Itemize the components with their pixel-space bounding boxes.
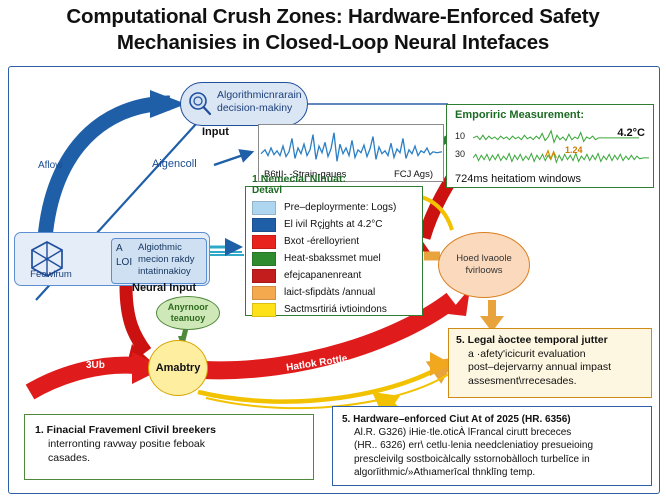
empiric-measurement-panel: Emporiric Measurement: 10 30 4.2°C 1.24 … <box>446 104 654 188</box>
legend-label: Bxot -érelloyrient <box>284 236 359 247</box>
label-neural-input: Neural Input <box>132 282 196 294</box>
label-input: Input <box>202 126 229 138</box>
bottom-left-text: 1. Finacial Fravemenl Cīivil breekers in… <box>35 423 305 466</box>
node-algorithmic-decision-making[interactable]: Algorithmicnrarain decision-makiny <box>180 82 308 126</box>
legend-panel: 1 Nemecial Nlnuat: Detavl Pre–deployrmen… <box>245 186 423 316</box>
bottom-right-text: 5. Hardware–enforced Ciut At of 2025 (HR… <box>342 413 645 479</box>
inner-box-b: LOI <box>116 257 132 268</box>
legal-line-3: post–dejervarny annual impast <box>456 361 611 375</box>
br-line-5: algorīithmic/»Athıamerīcal thnklīng temp… <box>342 466 535 479</box>
legend-swatch <box>252 218 276 232</box>
title-line-1: Computational Crush Zones: Hardware-Enfo… <box>66 5 599 28</box>
page-title: Computational Crush Zones: Hardware-Enfo… <box>0 4 666 56</box>
inner-box-c: Algiothmic mecion rakdy intatinnakioy <box>138 242 204 278</box>
legal-line-2: a ·afety'icicurit evaluation <box>456 348 586 362</box>
bl-line-2: interronting ravway positıe feboak <box>35 437 205 451</box>
legend-label: El ivil Rçjghts at 4.2°C <box>284 219 382 230</box>
label-aflow: Aflow <box>38 160 62 171</box>
legend-item: efejcapanenreant <box>252 267 420 284</box>
empiric-trace-2 <box>473 149 649 165</box>
legend-item: Sactmsrtiriá ivtioindons <box>252 301 420 318</box>
legal-line-1: 5. Legal àoctee temporal jutter <box>456 334 608 346</box>
legal-temporal-jitter-box: 5. Legal àoctee temporal jutter a ·afety… <box>448 328 652 398</box>
legend-label: Pre–deployrmente: Logs) <box>284 202 396 213</box>
legend-swatch <box>252 235 276 249</box>
feedback-node-box[interactable]: Feowirum A LOI Algiothmic mecion rakdy i… <box>14 232 210 286</box>
legend-item: Bxot -érelloyrient <box>252 233 420 250</box>
br-line-2: Al.R. G326) iHie·tle.oticÀ lFrancal ciru… <box>342 426 571 439</box>
feedback-node-label: Feowirum <box>21 269 81 280</box>
legend-label: Heat-sbakssmet muel <box>284 253 381 264</box>
empiric-header: Emporiric Measurement: <box>455 109 584 121</box>
node-green-ellipse[interactable]: Anyrnoor teanuoy <box>156 296 220 330</box>
bl-line-1: 1. Finacial Fravemenl Cīivil breekers <box>35 424 216 436</box>
legend-label: laict-sfipdàts /annual <box>284 287 375 298</box>
node-yellow-ellipse[interactable]: Amabtry <box>148 340 208 396</box>
br-line-4: prescleivilg sostboicàlcally sstornobàll… <box>342 453 590 466</box>
br-line-1: 5. Hardware–enforced Ciut At of 2025 (HR… <box>342 414 571 425</box>
legend-subheader: Detavl <box>252 185 282 196</box>
waveform-label-right: FCJ Ags) <box>394 169 433 180</box>
legend-swatch <box>252 269 276 283</box>
inner-box-a: A <box>116 243 123 254</box>
bl-line-3: casades. <box>35 451 90 465</box>
node-yellow-ellipse-label: Amabtry <box>156 362 201 374</box>
node-orange-ellipse[interactable]: Hoed lvaoole fvirloows <box>438 232 530 298</box>
bottom-right-note-box: 5. Hardware–enforced Ciut At of 2025 (HR… <box>332 406 652 486</box>
legend-item: Pre–deployrmente: Logs) <box>252 199 420 216</box>
node-orange-ellipse-label: Hoed lvaoole fvirloows <box>439 253 529 277</box>
legend-swatch <box>252 252 276 266</box>
waveform-trace <box>259 127 445 167</box>
node-algorithmic-decision-making-label: Algorithmicnrarain decision-makiny <box>217 89 309 115</box>
label-red-band-left: 3Ub <box>86 360 105 371</box>
empiric-trace-1 <box>473 129 641 145</box>
empiric-footer: 724ms heitatiom windows <box>455 173 581 185</box>
legend-item: laict-sfipdàts /annual <box>252 284 420 301</box>
legend-header: 1 Nemecial Nlnuat: <box>252 173 346 185</box>
legend-label: Sactmsrtiriá ivtioindons <box>284 304 387 315</box>
bottom-left-note-box: 1. Finacial Fravemenl Cīivil breekers in… <box>24 414 314 480</box>
legend-swatch <box>252 286 276 300</box>
legal-line-4: assesment\rrecesades. <box>456 375 577 389</box>
title-line-2: Mechanisies in Closed-Loop Neural Intefa… <box>0 30 666 56</box>
legend-swatch <box>252 303 276 317</box>
inner-algorithmic-box[interactable]: A LOI Algiothmic mecion rakdy intatinnak… <box>111 238 207 284</box>
legal-box-text: 5. Legal àoctee temporal jutter a ·afety… <box>456 334 646 389</box>
legend-swatch <box>252 201 276 215</box>
node-green-ellipse-label: Anyrnoor teanuoy <box>157 302 219 324</box>
label-aigencoll: Aigencoll <box>152 158 197 170</box>
empiric-trace1-label: 10 <box>455 131 465 141</box>
legend-item: El ivil Rçjghts at 4.2°C <box>252 216 420 233</box>
diagram-canvas: Computational Crush Zones: Hardware-Enfo… <box>0 0 666 500</box>
legend-item: Heat-sbakssmet muel <box>252 250 420 267</box>
legend-rows: Pre–deployrmente: Logs) El ivil Rçjghts … <box>252 199 420 318</box>
magnifier-icon <box>187 91 213 117</box>
legend-label: efejcapanenreant <box>284 270 361 281</box>
br-line-3: (HR.. 6326) err\ cetlu·lenia needcleniat… <box>342 439 593 452</box>
empiric-trace2-label: 30 <box>455 149 465 159</box>
